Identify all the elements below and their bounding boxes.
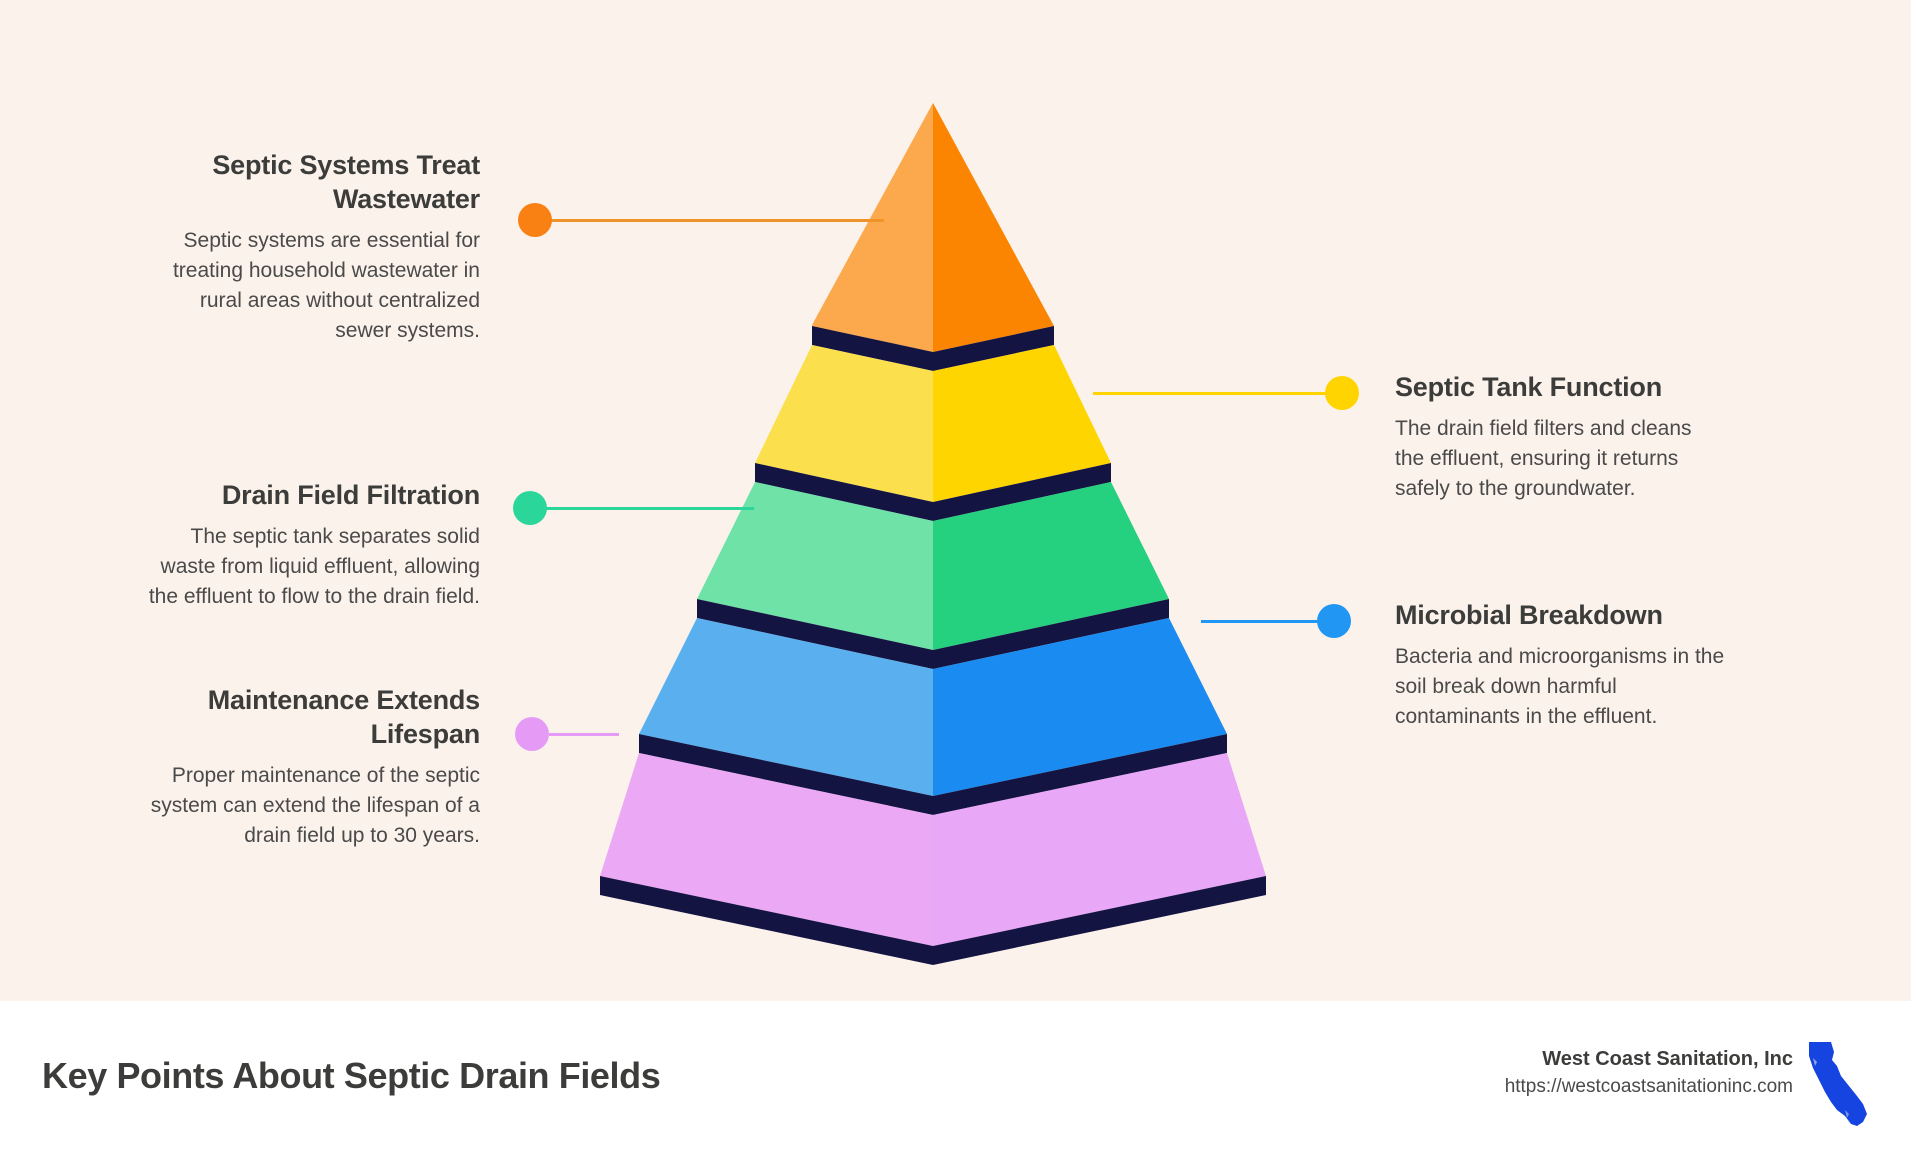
connector-dot-1[interactable] [518,203,552,237]
brand-block: West Coast Sanitation, Inc https://westc… [1505,1045,1793,1101]
callout-body: Septic systems are essential for treatin… [140,226,480,346]
infographic-canvas: Septic Systems Treat Wastewater Septic s… [0,0,1911,1160]
brand-url[interactable]: https://westcoastsanitationinc.com [1505,1073,1793,1101]
leader-line-3 [543,507,754,510]
callout-body: The drain field filters and cleans the e… [1395,414,1725,504]
callout-drain-field-filtration: Drain Field Filtration The septic tank s… [140,478,480,612]
california-state-outline-icon [1801,1040,1871,1132]
leader-line-4 [1201,620,1327,623]
leader-line-5 [549,733,619,736]
footer-title: Key Points About Septic Drain Fields [42,1055,660,1097]
callout-title: Septic Systems Treat Wastewater [140,148,480,216]
leader-line-1 [532,219,884,222]
callout-body: Bacteria and microorganisms in the soil … [1395,642,1725,732]
callout-septic-systems-treat-wastewater: Septic Systems Treat Wastewater Septic s… [140,148,480,346]
brand-name: West Coast Sanitation, Inc [1505,1045,1793,1073]
leader-line-2 [1093,392,1335,395]
connector-dot-3[interactable] [513,491,547,525]
pyramid-level-1-face-right [933,103,1054,352]
connector-dot-4[interactable] [1317,604,1351,638]
callout-title: Maintenance Extends Lifespan [140,683,480,751]
connector-dot-2[interactable] [1325,376,1359,410]
pyramid-level-1-face-left [812,103,933,352]
connector-dot-5[interactable] [515,717,549,751]
callout-body: Proper maintenance of the septic system … [140,761,480,851]
pyramid-level-1 [812,103,1054,371]
callout-title: Septic Tank Function [1395,370,1725,404]
callout-body: The septic tank separates solid waste fr… [140,522,480,612]
callout-title: Microbial Breakdown [1395,598,1725,632]
callout-microbial-breakdown: Microbial Breakdown Bacteria and microor… [1395,598,1725,732]
callout-title: Drain Field Filtration [140,478,480,512]
callout-septic-tank-function: Septic Tank Function The drain field fil… [1395,370,1725,504]
callout-maintenance-extends-lifespan: Maintenance Extends Lifespan Proper main… [140,683,480,851]
